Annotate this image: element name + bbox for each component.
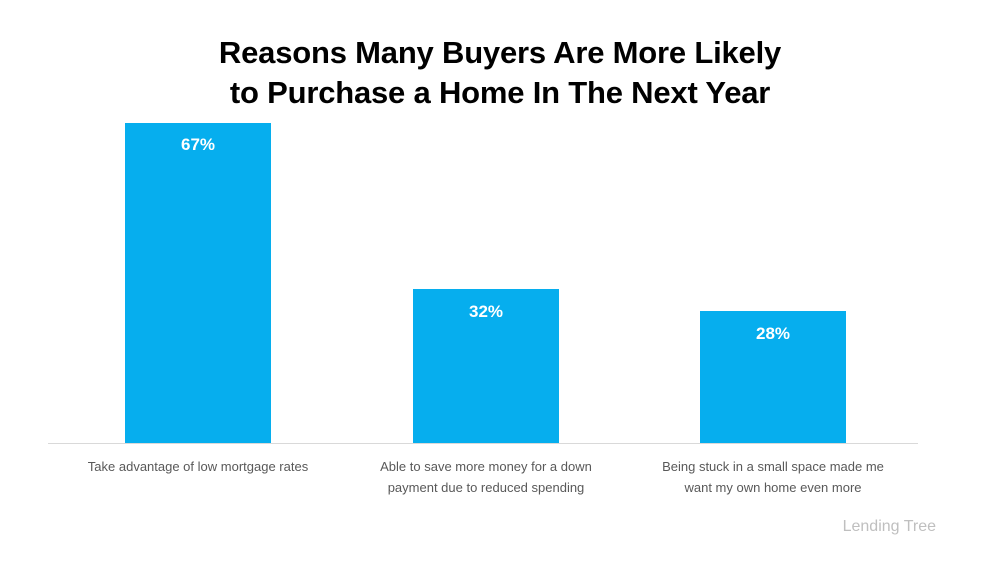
- category-label-2-line-2: payment due to reduced spending: [336, 477, 636, 498]
- bar-value-1: 67%: [125, 136, 271, 153]
- source-attribution: Lending Tree: [843, 517, 936, 537]
- category-label-2: Able to save more money for a down payme…: [336, 456, 636, 498]
- bar-3[interactable]: 28%: [700, 311, 846, 443]
- x-axis-baseline: [48, 443, 918, 444]
- category-label-1: Take advantage of low mortgage rates: [28, 456, 368, 477]
- category-label-3: Being stuck in a small space made me wan…: [623, 456, 923, 498]
- category-label-3-line-2: want my own home even more: [623, 477, 923, 498]
- plot-area: 67% Take advantage of low mortgage rates…: [0, 0, 1000, 563]
- bar-2[interactable]: 32%: [413, 289, 559, 443]
- category-label-2-line-1: Able to save more money for a down: [336, 456, 636, 477]
- bar-1[interactable]: 67%: [125, 123, 271, 443]
- bar-value-2: 32%: [413, 303, 559, 320]
- category-label-1-line-1: Take advantage of low mortgage rates: [28, 456, 368, 477]
- chart-canvas: Reasons Many Buyers Are More Likely to P…: [0, 0, 1000, 563]
- bar-value-3: 28%: [700, 325, 846, 342]
- category-label-3-line-1: Being stuck in a small space made me: [623, 456, 923, 477]
